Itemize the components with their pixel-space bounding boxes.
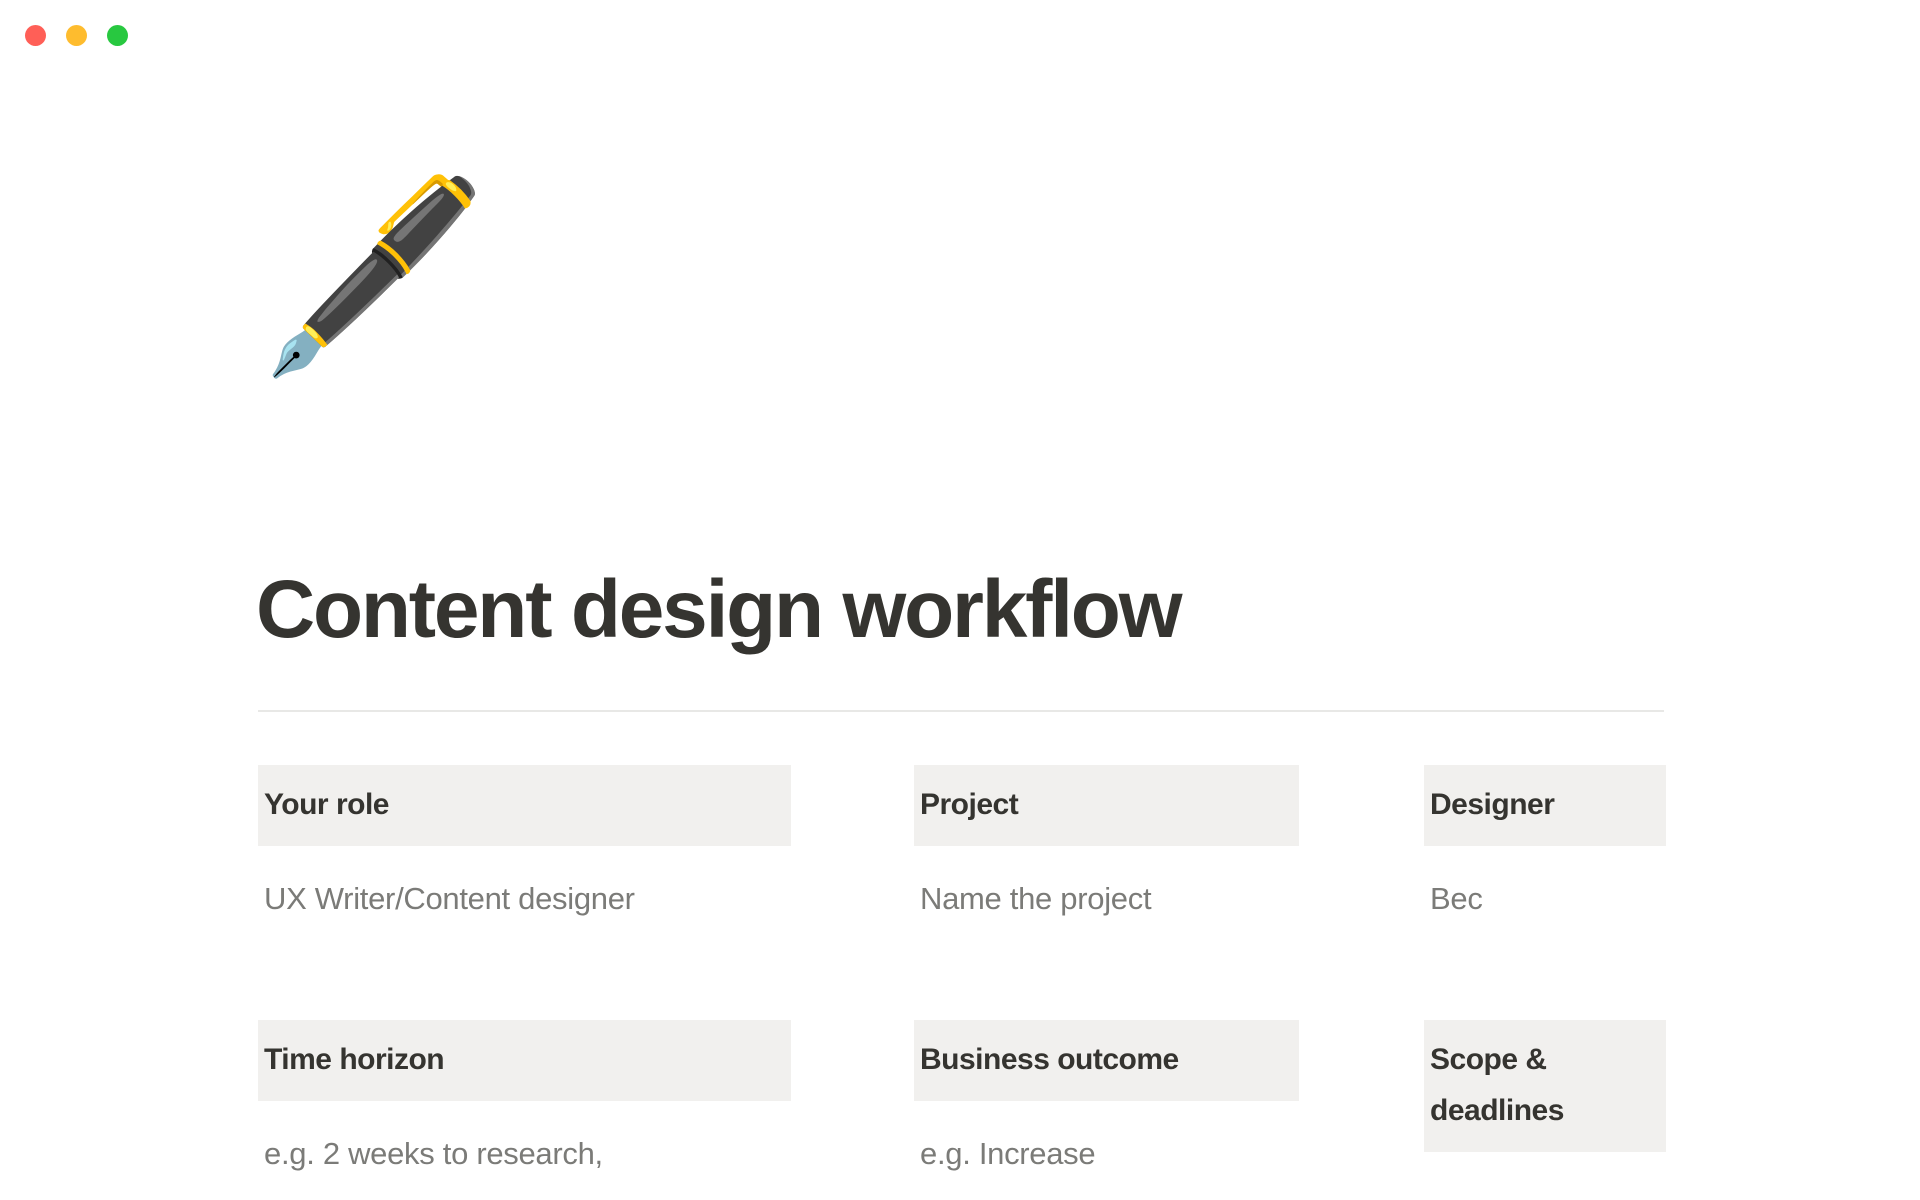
property-value[interactable]: e.g. 2 weeks to research,: [258, 1131, 791, 1177]
minimize-window-icon[interactable]: [66, 25, 87, 46]
app-window: 🖋️ Content design workflow Your role UX …: [0, 0, 1920, 1200]
property-row: Your role UX Writer/Content designer Pro…: [258, 765, 1668, 1020]
property-label[interactable]: Designer: [1424, 765, 1666, 846]
property-business-outcome: Business outcome e.g. Increase: [914, 1020, 1299, 1177]
title-divider: [258, 710, 1664, 712]
property-value[interactable]: UX Writer/Content designer: [258, 876, 791, 922]
property-time-horizon: Time horizon e.g. 2 weeks to research,: [258, 1020, 791, 1177]
property-label[interactable]: Scope & deadlines: [1424, 1020, 1666, 1152]
property-your-role: Your role UX Writer/Content designer: [258, 765, 791, 922]
property-scope-deadlines: Scope & deadlines: [1424, 1020, 1666, 1182]
close-window-icon[interactable]: [25, 25, 46, 46]
property-label[interactable]: Time horizon: [258, 1020, 791, 1101]
title-bar: [0, 0, 1920, 62]
property-grid: Your role UX Writer/Content designer Pro…: [258, 765, 1668, 1200]
property-designer: Designer Bec: [1424, 765, 1666, 922]
traffic-lights: [25, 25, 128, 46]
property-value[interactable]: e.g. Increase: [914, 1131, 1299, 1177]
document-body: 🖋️ Content design workflow Your role UX …: [0, 62, 1920, 1200]
property-label[interactable]: Business outcome: [914, 1020, 1299, 1101]
property-row: Time horizon e.g. 2 weeks to research, B…: [258, 1020, 1668, 1200]
page-title[interactable]: Content design workflow: [256, 562, 1676, 658]
maximize-window-icon[interactable]: [107, 25, 128, 46]
property-project: Project Name the project: [914, 765, 1299, 922]
property-label[interactable]: Your role: [258, 765, 791, 846]
property-value[interactable]: Name the project: [914, 876, 1299, 922]
property-value[interactable]: Bec: [1424, 876, 1666, 922]
property-label[interactable]: Project: [914, 765, 1299, 846]
fountain-pen-emoji[interactable]: 🖋️: [258, 167, 478, 387]
